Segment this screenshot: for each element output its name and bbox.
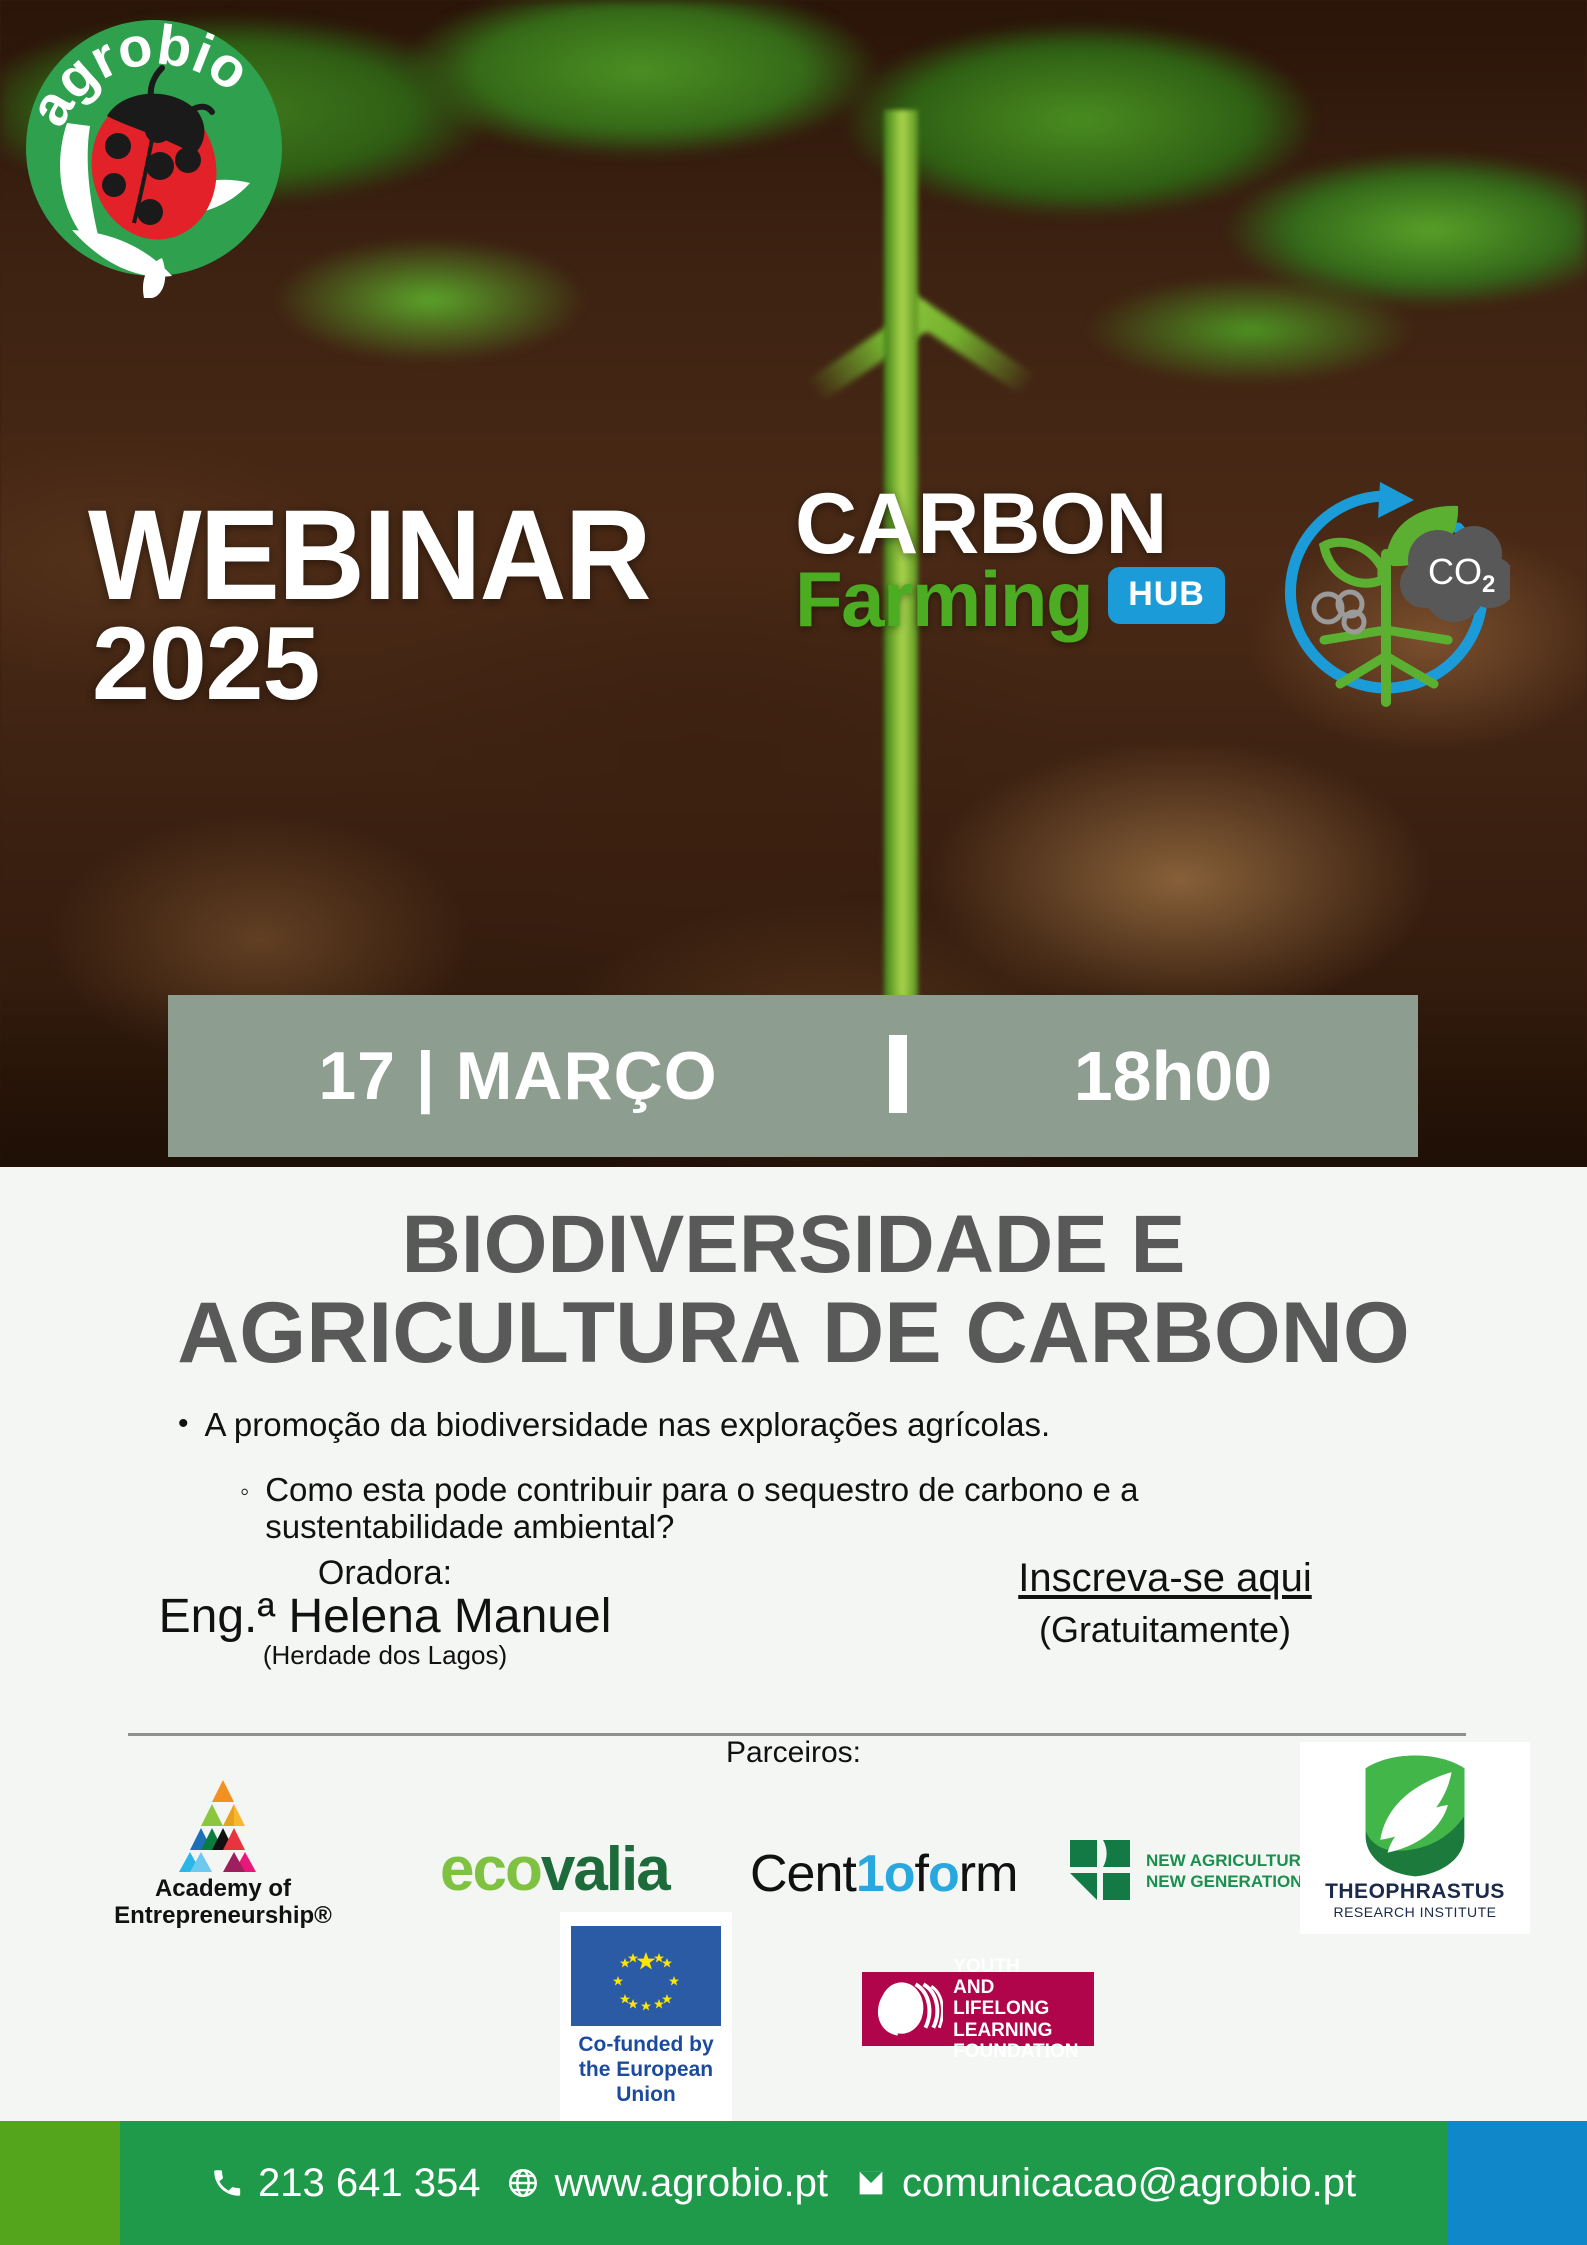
hero-title-block: WEBINAR CARBON Farming HUB 2025 (0, 500, 1587, 635)
partner-logo-youth-and-lifelong-learning-foundation: YOUTH AND LIFELONG LEARNING FOUNDATION (862, 1972, 1094, 2046)
register-block: Inscreva-se aqui (Gratuitamente) (1000, 1556, 1330, 1651)
partner-logos-row-2: Co-funded by the European Union YOUTH AN… (0, 1900, 1587, 2110)
partner-label: YOUTH AND LIFELONG LEARNING FOUNDATION (953, 1956, 1094, 2062)
nagre-squares-icon (1070, 1840, 1132, 1902)
footer-left-accent (0, 2121, 120, 2245)
footer-email[interactable]: comunicacao@agrobio.pt (854, 2161, 1356, 2206)
centoform-p4: f (915, 1845, 928, 1903)
sub-bullet-marker-icon: ◦ (240, 1472, 249, 1546)
speaker-block: Oradora: Eng.ª Helena Manuel (Herdade do… (150, 1554, 620, 1671)
envelope-icon (854, 2166, 888, 2200)
topic-bullet-list: • A promoção da biodiversidade nas explo… (0, 1404, 1587, 1545)
ecovalia-part-2: valia (541, 1835, 669, 1904)
eu-line-2: the European Union (579, 2058, 713, 2106)
agrobio-logo: agrobio (12, 8, 302, 298)
partner-label: Co-funded by the European Union (570, 2032, 722, 2108)
webinar-title: WEBINAR (88, 492, 650, 620)
carbon-word: CARBON (795, 484, 1225, 566)
hub-badge: HUB (1108, 567, 1225, 624)
ecovalia-part-1: eco (440, 1835, 541, 1904)
footer-phone-text: 213 641 354 (258, 2161, 480, 2206)
centoform-p2: 1 (856, 1845, 884, 1903)
partner-label: NEW AGRICULTURE NEW GENERATION (1146, 1850, 1312, 1893)
footer-contact-bar: 213 641 354 www.agrobio.pt comunicacao@a… (120, 2121, 1447, 2245)
partner-logo-ecovalia: ecovalia (440, 1834, 669, 1905)
bullet-marker-icon: • (178, 1404, 189, 1445)
speaker-organization: (Herdade dos Lagos) (150, 1640, 620, 1671)
register-note: (Gratuitamente) (1000, 1609, 1330, 1651)
contact-footer: 213 641 354 www.agrobio.pt comunicacao@a… (0, 2121, 1587, 2245)
footer-website-text: www.agrobio.pt (554, 2161, 827, 2206)
academy-line-1: Academy of (155, 1875, 291, 1902)
centoform-p3: o (884, 1845, 915, 1903)
yllf-line-1: YOUTH (953, 1956, 1020, 1977)
footer-phone[interactable]: 213 641 354 (210, 2161, 480, 2206)
carbon-farming-wordmark: CARBON Farming HUB (795, 484, 1225, 638)
carbon-farming-hub-icon: CO2 (1262, 480, 1510, 710)
speaker-name: Eng.ª Helena Manuel (150, 1589, 620, 1644)
headline-line-1: BIODIVERSIDADE E (402, 1199, 1186, 1290)
partner-logo-co-funded-by-the-european-union: Co-funded by the European Union (560, 1912, 732, 2124)
year-title: 2025 (92, 612, 319, 716)
sub-bullet-text: Como esta pode contribuir para o sequest… (265, 1472, 1220, 1546)
list-item: ◦ Como esta pode contribuir para o seque… (240, 1472, 1220, 1546)
nagre-line-1: NEW AGRICULTURE (1146, 1851, 1312, 1870)
phone-icon (210, 2166, 244, 2200)
yllf-line-4: FOUNDATION (953, 2041, 1078, 2062)
date-time-bar: 17 | MARÇO 18h00 (168, 995, 1418, 1157)
bullet-text: A promoção da biodiversidade nas explora… (205, 1404, 1051, 1445)
nagre-line-2: NEW GENERATION (1146, 1872, 1302, 1891)
academy-triangle-icon (158, 1772, 288, 1872)
time-label: 18h00 (928, 1036, 1418, 1116)
list-item: • A promoção da biodiversidade nas explo… (178, 1404, 1587, 1445)
partner-logo-centoform: Cent1oform (750, 1844, 1017, 1904)
centoform-p5: o (928, 1845, 959, 1903)
footer-right-accent (1447, 2121, 1587, 2245)
centoform-p1: Cent (750, 1845, 856, 1903)
speaker-and-register-row: Oradora: Eng.ª Helena Manuel (Herdade do… (0, 1554, 1587, 1674)
yllf-line-3: LEARNING (953, 2020, 1052, 2041)
page-title: BIODIVERSIDADE E AGRICULTURA DE CARBONO (0, 1202, 1587, 1378)
date-label: 17 | MARÇO (168, 1037, 868, 1115)
yllf-faces-icon (874, 1978, 943, 2040)
globe-icon (506, 2166, 540, 2200)
speaker-label: Oradora: (150, 1554, 620, 1593)
farming-word: Farming (795, 560, 1092, 638)
theophrastus-leaf-shield-icon (1360, 1752, 1470, 1880)
yllf-line-2: AND LIFELONG (953, 1977, 1049, 2019)
footer-website[interactable]: www.agrobio.pt (506, 2161, 827, 2206)
footer-email-text: comunicacao@agrobio.pt (902, 2161, 1356, 2206)
eu-line-1: Co-funded by (578, 2033, 713, 2056)
partner-logo-new-agriculture-new-generation: NEW AGRICULTURE NEW GENERATION (1070, 1840, 1312, 1902)
date-time-separator (868, 1035, 928, 1118)
headline-line-2: AGRICULTURA DE CARBONO (0, 1288, 1587, 1378)
eu-flag-icon (571, 1926, 721, 2026)
register-link[interactable]: Inscreva-se aqui (1000, 1556, 1330, 1601)
centoform-p6: rm (959, 1845, 1018, 1903)
